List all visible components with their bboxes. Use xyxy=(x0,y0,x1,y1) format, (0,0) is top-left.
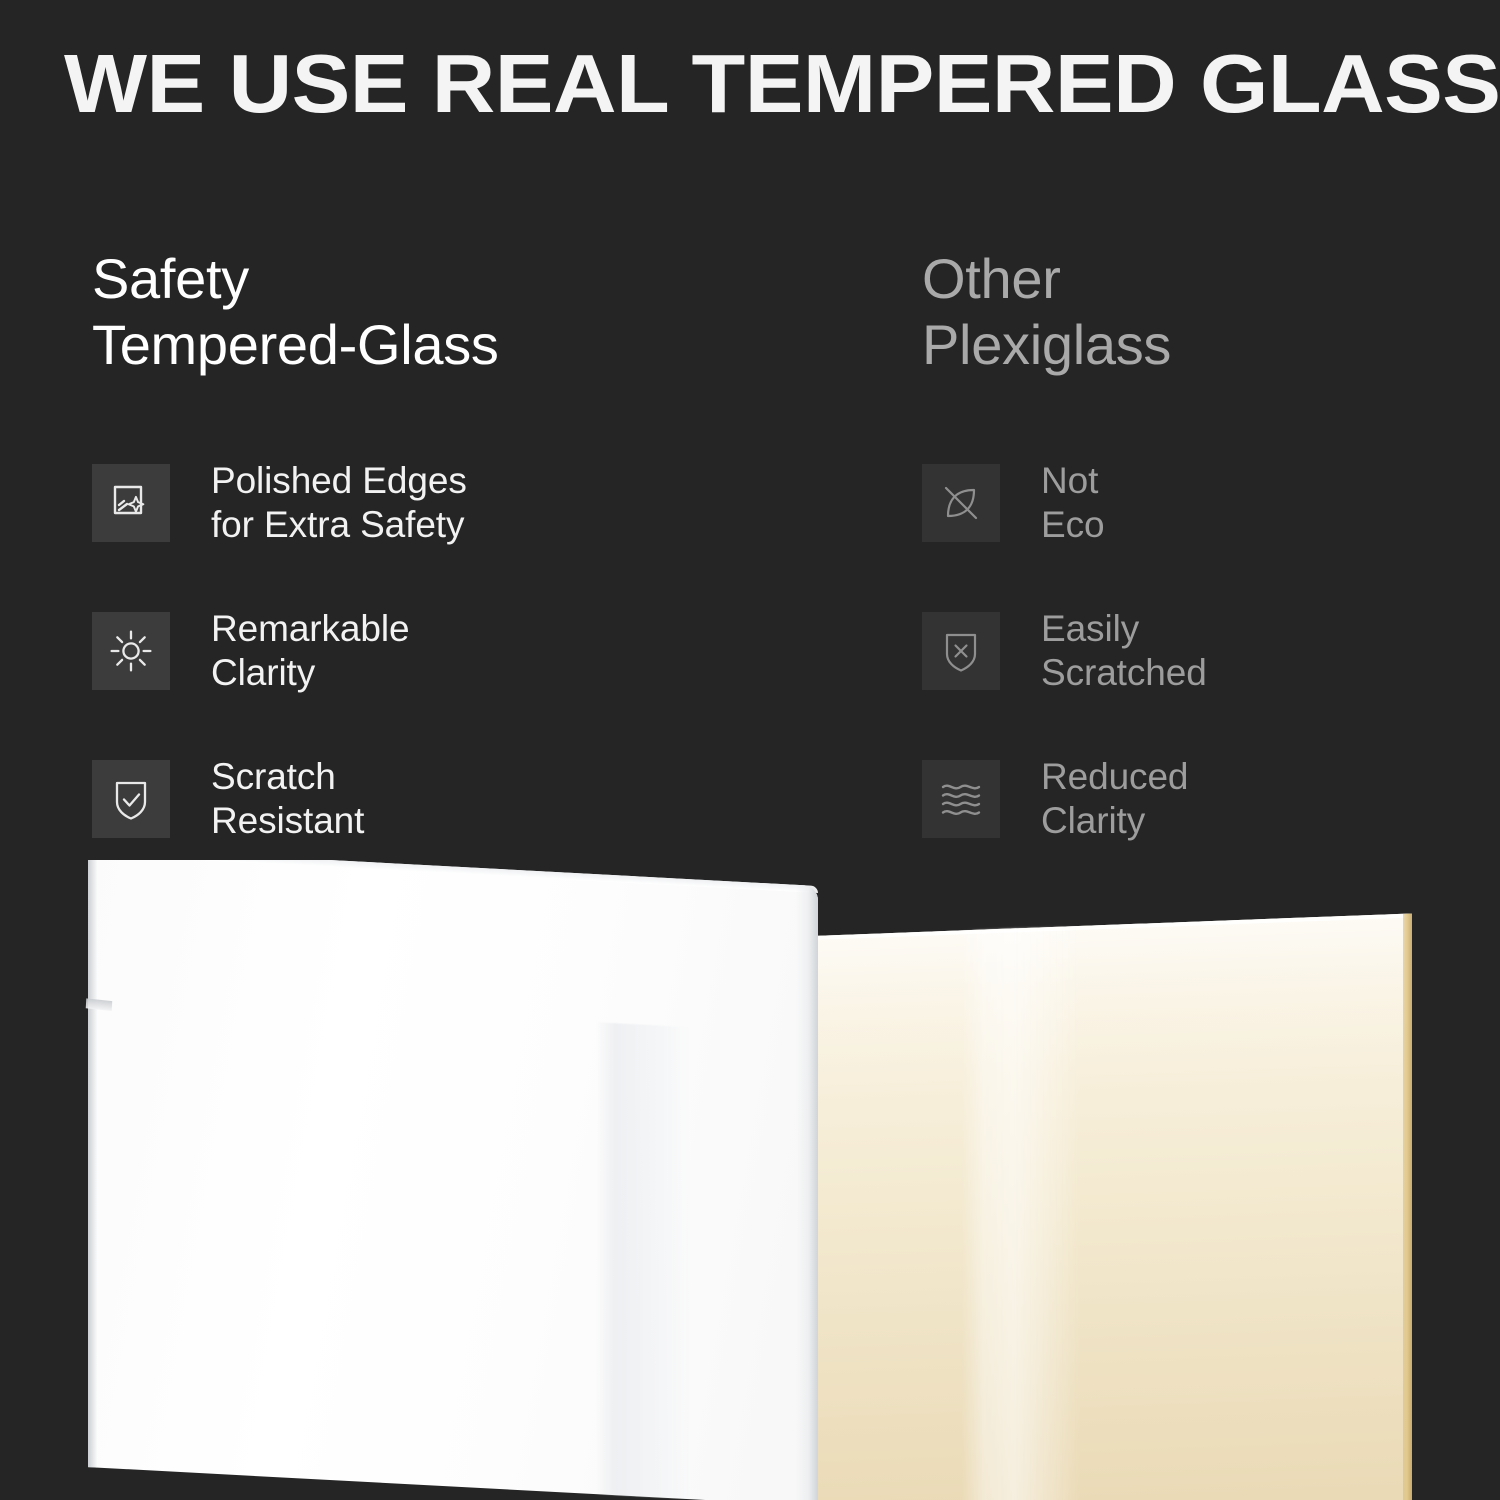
glass-left-bevel xyxy=(88,860,97,1468)
feature-label-remarkable-clarity: Remarkable Clarity xyxy=(211,607,409,696)
column-plexiglass: Other Plexiglass Not Eco xyxy=(922,246,1462,378)
polished-edge-sparkle-icon xyxy=(92,464,170,542)
wavy-blur-icon xyxy=(922,760,1000,838)
glass-reflection xyxy=(596,1022,692,1499)
feature-list-plexiglass: Not Eco Easily Scratched xyxy=(922,464,1207,838)
shield-x-icon xyxy=(922,612,1000,690)
feature-label-easily-scratched: Easily Scratched xyxy=(1041,607,1207,696)
product-comparison-image xyxy=(0,860,1500,1500)
infographic-canvas: WE USE REAL TEMPERED GLASS Safety Temper… xyxy=(0,0,1500,1500)
feature-row-scratch-resistant: Scratch Resistant xyxy=(92,760,467,838)
tempered-glass-panel-clear-white xyxy=(88,860,818,1500)
feature-row-easily-scratched: Easily Scratched xyxy=(922,612,1207,690)
glass-right-bevel xyxy=(796,885,818,1500)
feature-label-polished-edges: Polished Edges for Extra Safety xyxy=(211,459,467,548)
feature-label-scratch-resistant: Scratch Resistant xyxy=(211,755,364,844)
feature-row-polished-edges: Polished Edges for Extra Safety xyxy=(92,464,467,542)
plexi-right-edge xyxy=(1403,913,1412,1500)
feature-row-reduced-clarity: Reduced Clarity xyxy=(922,760,1207,838)
column-tempered-glass: Safety Tempered-Glass Polished Edges for… xyxy=(92,246,852,378)
feature-row-remarkable-clarity: Remarkable Clarity xyxy=(92,612,467,690)
page-title: WE USE REAL TEMPERED GLASS xyxy=(64,42,1500,125)
shield-check-icon xyxy=(92,760,170,838)
plexiglass-panel-yellowed xyxy=(812,913,1412,1500)
feature-label-reduced-clarity: Reduced Clarity xyxy=(1041,755,1188,844)
feature-list-tempered-glass: Polished Edges for Extra Safety xyxy=(92,464,467,838)
glass-top-bevel xyxy=(88,860,818,893)
sun-clarity-icon xyxy=(92,612,170,690)
feature-label-not-eco: Not Eco xyxy=(1041,459,1104,548)
leaf-crossed-out-icon xyxy=(922,464,1000,542)
column-title-plexiglass: Other Plexiglass xyxy=(922,246,1462,378)
feature-row-not-eco: Not Eco xyxy=(922,464,1207,542)
plexi-top-edge xyxy=(812,913,1412,940)
column-title-tempered-glass: Safety Tempered-Glass xyxy=(92,246,852,378)
plexi-reflection xyxy=(962,926,1080,1500)
